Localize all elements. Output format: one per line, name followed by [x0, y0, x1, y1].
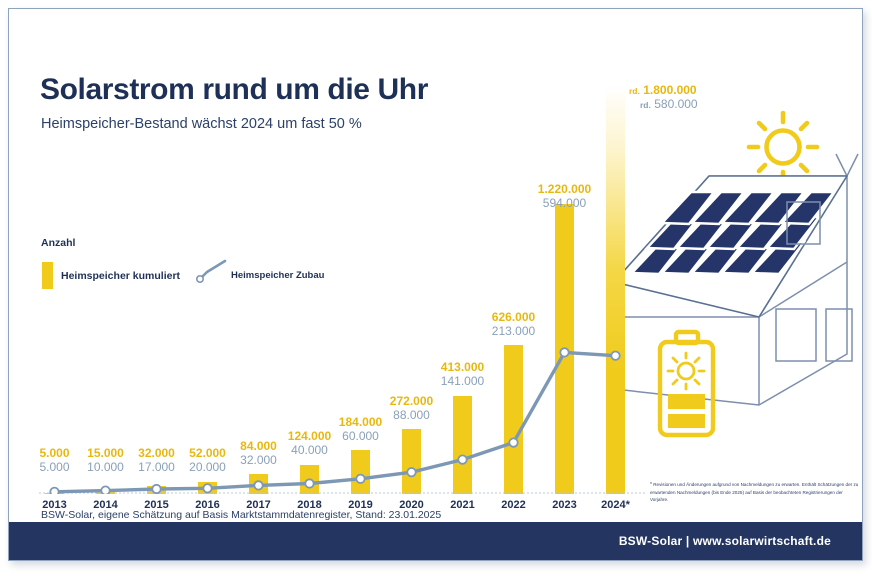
chart-area: 5.000 5.000 15.000 10.000 32.000 17.000 …	[33, 69, 653, 494]
value-label-2023: 1.220.000 594.000	[524, 183, 605, 211]
value-label-2022: 626.000 213.000	[473, 311, 554, 339]
footnote-marker: *	[650, 482, 652, 488]
value-label-2024: rd. 1.800.000 rd. 580.000	[629, 84, 759, 112]
source-note: BSW-Solar, eigene Schätzung auf Basis Ma…	[41, 509, 441, 521]
value-label-2020: 272.000 88.000	[371, 395, 452, 423]
xtick-2024: 2024*	[585, 499, 646, 511]
footer-brand: BSW-Solar | www.solarwirtschaft.de	[619, 534, 831, 548]
footnote: * Revisionen und Änderungen aufgrund von…	[650, 482, 862, 504]
sun-icon	[749, 113, 817, 181]
infographic-card: Solarstrom rund um die Uhr Heimspeicher-…	[8, 8, 863, 561]
footnote-text: Revisionen und Änderungen aufgrund von N…	[650, 482, 858, 502]
value-label-2021: 413.000 141.000	[422, 361, 503, 389]
footer-bar: BSW-Solar | www.solarwirtschaft.de	[9, 522, 863, 560]
